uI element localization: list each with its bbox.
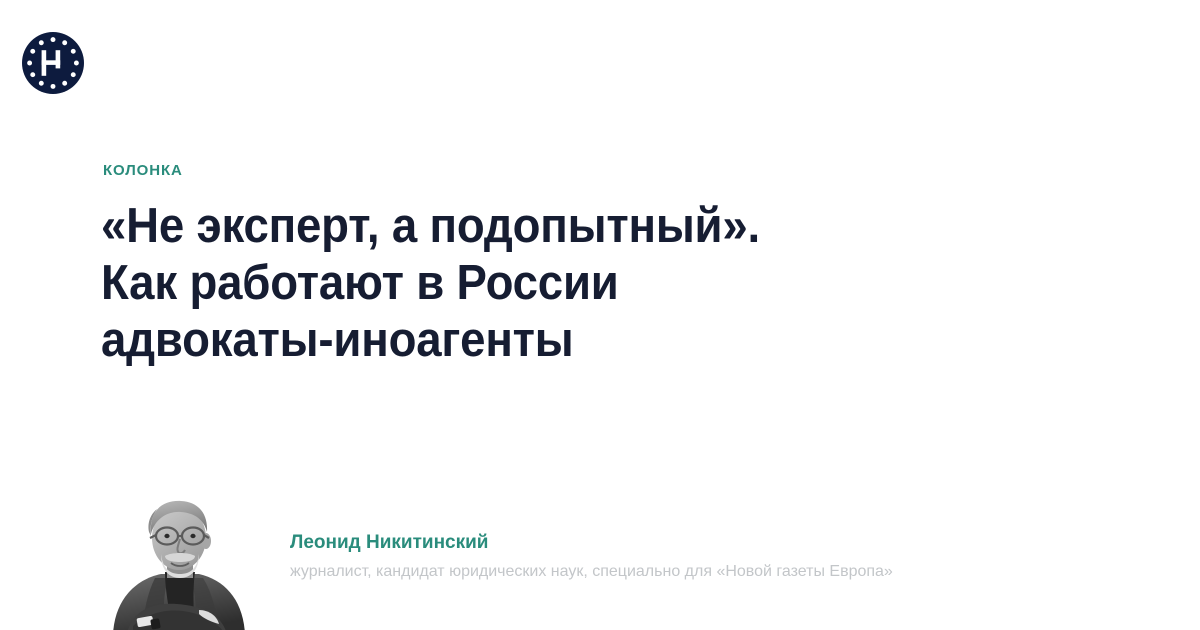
author-name[interactable]: Леонид Никитинский bbox=[290, 531, 1150, 555]
headline-line-1: «Не эксперт, а подопытный». bbox=[101, 198, 919, 255]
headline-line-3: адвокаты-иноагенты bbox=[101, 312, 919, 369]
page-title: «Не эксперт, а подопытный». Как работают… bbox=[101, 198, 919, 369]
avatar bbox=[103, 486, 251, 630]
byline-text-block: Леонид Никитинский журналист, кандидат ю… bbox=[290, 531, 1150, 582]
author-byline: Леонид Никитинский журналист, кандидат ю… bbox=[103, 486, 1163, 630]
author-role: журналист, кандидат юридических наук, сп… bbox=[290, 562, 1150, 582]
headline-line-2: Как работают в России bbox=[101, 255, 919, 312]
article-share-card: КОЛОНКА «Не эксперт, а подопытный». Как … bbox=[0, 0, 1200, 630]
novaya-gazeta-europe-logo-icon[interactable] bbox=[22, 32, 84, 94]
article-kicker[interactable]: КОЛОНКА bbox=[103, 162, 183, 180]
